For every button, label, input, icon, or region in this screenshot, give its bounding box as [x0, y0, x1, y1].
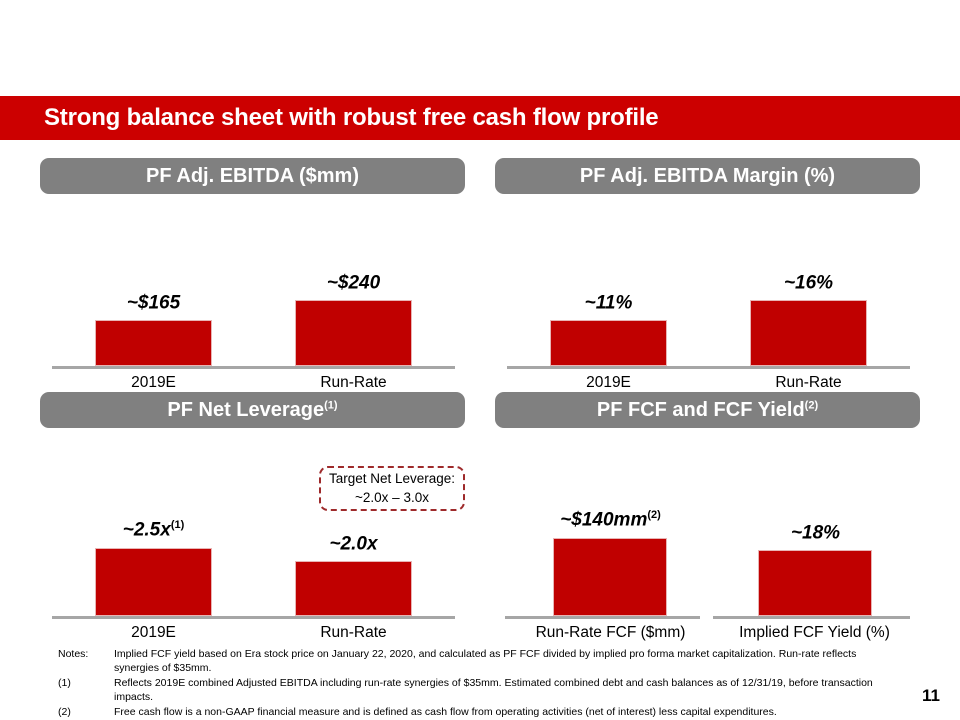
category-label-implied-fcf-yield: Implied FCF Yield (%) — [727, 625, 902, 641]
footnote-row: (1) Reflects 2019E combined Adjusted EBI… — [58, 677, 888, 705]
footnote-key: (2) — [58, 706, 114, 720]
category-label-run-rate: Run-Rate — [281, 375, 426, 391]
bar-implied-fcf-yield — [758, 550, 872, 616]
bar-2019e — [95, 320, 212, 366]
page-number: 11 — [922, 686, 940, 706]
panel-pf-net-leverage: PF Net Leverage(1) Target Net Leverage: … — [40, 392, 465, 648]
bar-run-rate — [295, 300, 412, 366]
chart-pf-net-leverage: Target Net Leverage: ~2.0x – 3.0x ~2.5x(… — [40, 428, 465, 648]
footnotes: Notes: Implied FCF yield based on Era st… — [58, 648, 888, 720]
panel-header-pf-net-leverage: PF Net Leverage(1) — [40, 392, 465, 428]
target-net-leverage-callout: Target Net Leverage: ~2.0x – 3.0x — [319, 466, 465, 511]
panel-header-label: PF Net Leverage — [167, 399, 324, 421]
bar-run-rate-fcf — [553, 538, 667, 616]
bar-value-implied-fcf-yield: ~18% — [743, 523, 888, 542]
bar-value-2019e: ~2.5x(1) — [81, 520, 226, 539]
category-label-2019e: 2019E — [81, 375, 226, 391]
chart-axis-line — [52, 366, 455, 369]
bar-run-rate — [295, 561, 412, 616]
panel-pf-fcf-and-fcf-yield: PF FCF and FCF Yield(2) ~$140mm(2) Run-R… — [495, 392, 920, 648]
category-label-run-rate-fcf: Run-Rate FCF ($mm) — [523, 625, 698, 641]
panel-header-pf-adj-ebitda: PF Adj. EBITDA ($mm) — [40, 158, 465, 194]
panel-header-label: PF Adj. EBITDA ($mm) — [146, 165, 359, 187]
bar-value-2019e: ~11% — [536, 293, 681, 312]
panel-header-pf-fcf-and-fcf-yield: PF FCF and FCF Yield(2) — [495, 392, 920, 428]
bar-value-run-rate: ~$240 — [281, 273, 426, 292]
footnote-text: Free cash flow is a non-GAAP financial m… — [114, 706, 888, 720]
bar-value-2019e: ~$165 — [81, 293, 226, 312]
category-label-2019e: 2019E — [536, 375, 681, 391]
page-title: Strong balance sheet with robust free ca… — [0, 104, 658, 132]
footnote-row: Notes: Implied FCF yield based on Era st… — [58, 648, 888, 676]
panel-header-footnote-ref: (1) — [324, 399, 337, 411]
panel-header-pf-adj-ebitda-margin: PF Adj. EBITDA Margin (%) — [495, 158, 920, 194]
category-label-2019e: 2019E — [81, 625, 226, 641]
callout-line-2: ~2.0x – 3.0x — [355, 489, 429, 507]
chart-axis-line-right — [713, 616, 910, 619]
bar-2019e — [550, 320, 667, 366]
bar-run-rate — [750, 300, 867, 366]
chart-pf-adj-ebitda-margin: ~11% 2019E ~16% Run-Rate — [495, 194, 920, 384]
panel-header-footnote-ref: (2) — [805, 399, 818, 411]
category-label-run-rate: Run-Rate — [736, 375, 881, 391]
footnote-row: (2) Free cash flow is a non-GAAP financi… — [58, 706, 888, 720]
footnote-key: (1) — [58, 677, 114, 705]
slide-title-banner: Strong balance sheet with robust free ca… — [0, 96, 960, 140]
panel-header-label: PF Adj. EBITDA Margin (%) — [580, 165, 835, 187]
chart-axis-line-left — [505, 616, 700, 619]
bar-value-run-rate: ~2.0x — [281, 534, 426, 553]
chart-pf-adj-ebitda: ~$165 2019E ~$240 Run-Rate — [40, 194, 465, 384]
panel-pf-adj-ebitda: PF Adj. EBITDA ($mm) ~$165 2019E ~$240 R… — [40, 158, 465, 384]
bar-value-run-rate-fcf: ~$140mm(2) — [533, 510, 688, 529]
panel-header-label: PF FCF and FCF Yield — [597, 399, 805, 421]
chart-axis-line — [507, 366, 910, 369]
category-label-run-rate: Run-Rate — [281, 625, 426, 641]
slide: Strong balance sheet with robust free ca… — [0, 0, 960, 720]
bar-value-run-rate: ~16% — [736, 273, 881, 292]
chart-axis-line — [52, 616, 455, 619]
footnote-key: Notes: — [58, 648, 114, 676]
panel-pf-adj-ebitda-margin: PF Adj. EBITDA Margin (%) ~11% 2019E ~16… — [495, 158, 920, 384]
footnote-text: Implied FCF yield based on Era stock pri… — [114, 648, 888, 676]
footnote-text: Reflects 2019E combined Adjusted EBITDA … — [114, 677, 888, 705]
chart-pf-fcf-and-fcf-yield: ~$140mm(2) Run-Rate FCF ($mm) ~18% Impli… — [495, 428, 920, 648]
callout-line-1: Target Net Leverage: — [329, 470, 455, 488]
bar-2019e — [95, 548, 212, 616]
